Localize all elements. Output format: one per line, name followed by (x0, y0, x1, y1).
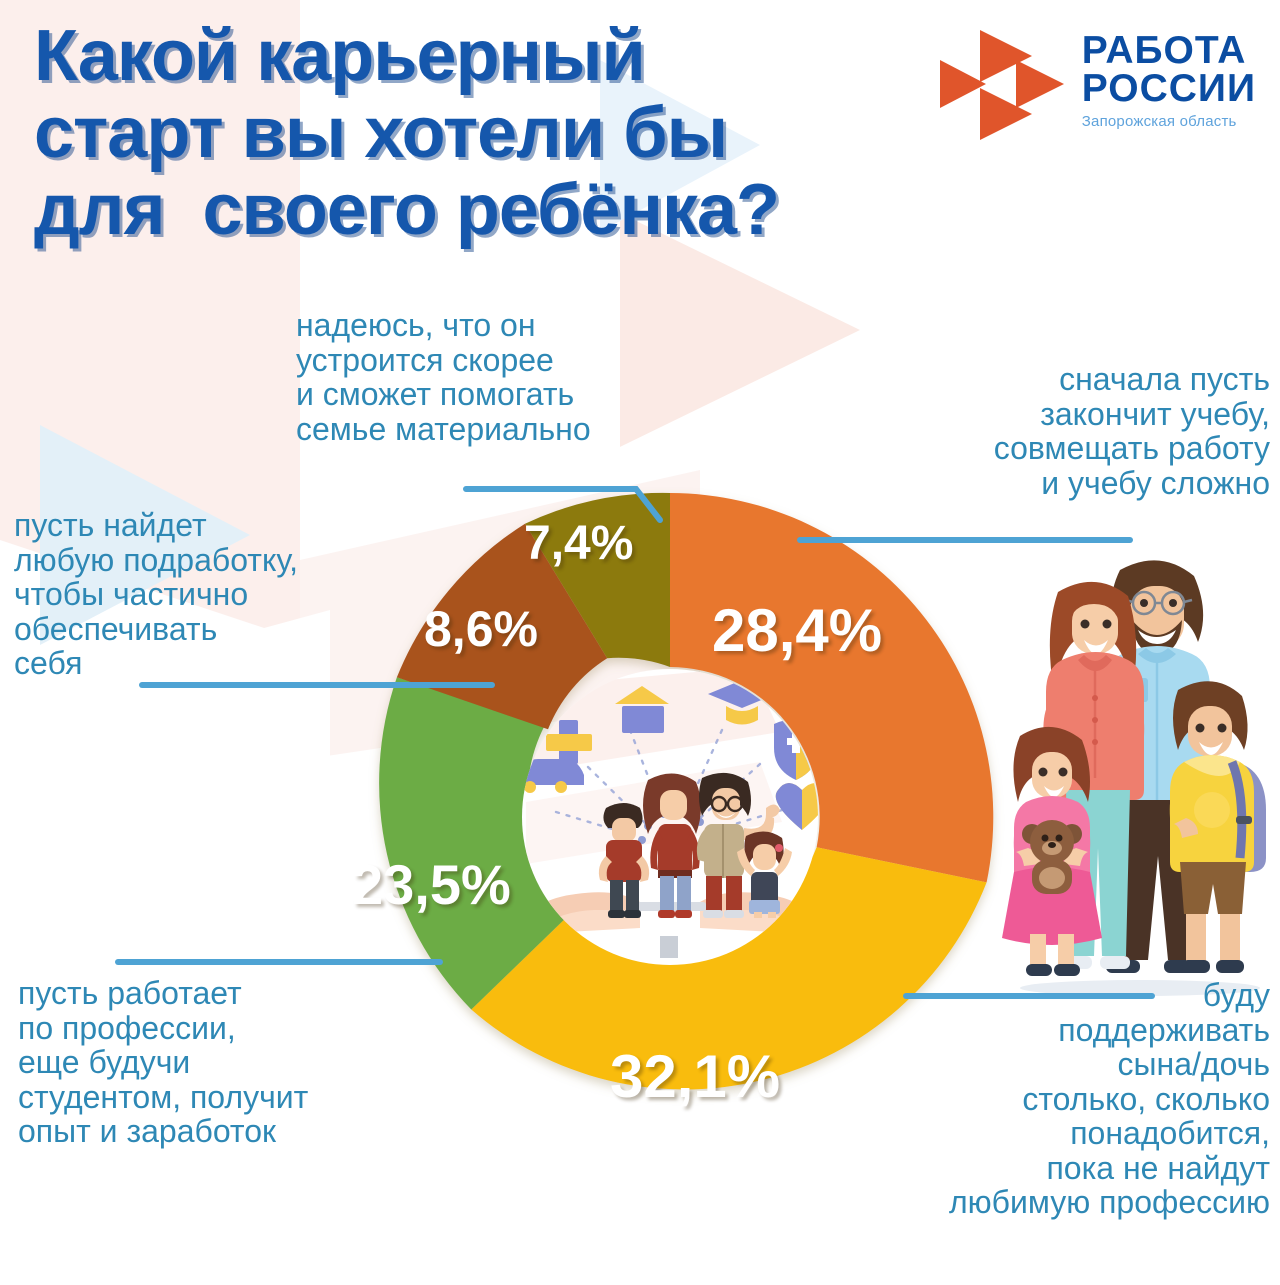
page-title: Какой карьерный старт вы хотели бы для с… (34, 18, 934, 249)
logo-line-2: РОССИИ (1082, 70, 1256, 108)
percent-label-32-1: 32,1% (610, 1042, 780, 1111)
callout-work-in-profession: пусть работает по профессии, еще будучи … (18, 976, 308, 1149)
title-line-1: Какой карьерный (34, 18, 934, 95)
logo-line-1: РАБОТА (1082, 32, 1256, 70)
title-line-3: для своего ребёнка? (34, 172, 934, 249)
callout-any-side-job: пусть найдет любую подработку, чтобы час… (14, 508, 298, 681)
percent-label-8-6: 8,6% (424, 600, 538, 658)
percent-label-23-5: 23,5% (352, 852, 511, 917)
daughter-with-teddy-figure (1002, 727, 1102, 976)
brand-logo: РАБОТА РОССИИ Запорожская область (936, 26, 1256, 146)
percent-label-7-4: 7,4% (524, 516, 633, 571)
percent-label-28-4: 28,4% (712, 596, 882, 665)
family-of-four-illustration (1000, 548, 1272, 1000)
callout-support-as-long-as-needed: буду поддерживать сына/дочь столько, ско… (830, 978, 1270, 1220)
callout-hope-helps-family: надеюсь, что он устроится скорее и сможе… (296, 308, 591, 446)
logo-subtitle: Запорожская область (1082, 113, 1256, 130)
callout-finish-studies-first: сначала пусть закончит учебу, совмещать … (860, 362, 1270, 500)
logo-wordmark: РАБОТА РОССИИ Запорожская область (1082, 26, 1256, 130)
pinwheel-triangles-logo-icon (936, 26, 1068, 146)
title-line-2: старт вы хотели бы (34, 95, 934, 172)
